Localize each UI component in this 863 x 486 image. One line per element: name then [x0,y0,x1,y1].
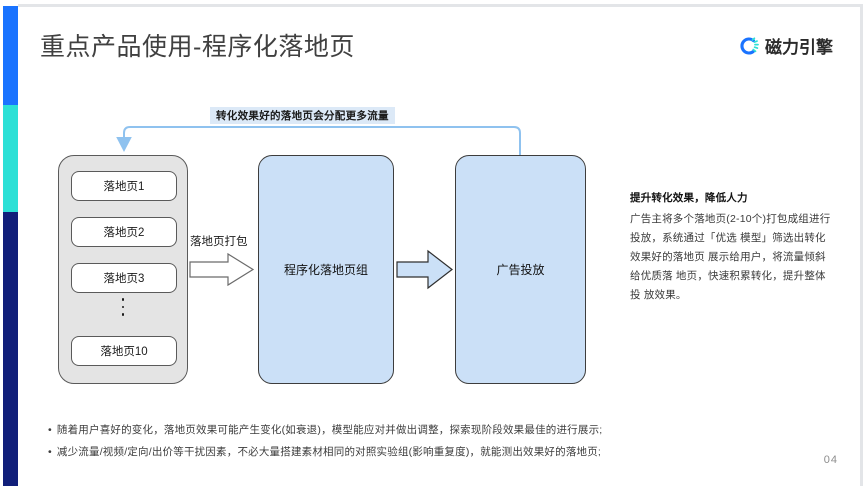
vertical-ellipsis-icon [59,298,187,316]
brand-logo: 磁力引擎 [737,33,833,58]
bullet-list: • 随着用户喜好的变化，落地页效果可能产生变化(如衰退)，模型能应对并做出调整，… [48,419,808,463]
list-item: 落地页3 [71,263,177,293]
bullet-text: 随着用户喜好的变化，落地页效果可能产生变化(如衰退)，模型能应对并做出调整，探索… [57,419,603,441]
bullet-text: 减少流量/视频/定向/出价等干扰因素，不必大量搭建素材相同的对照实验组(影响重复… [57,441,601,463]
flow-diagram: 转化效果好的落地页会分配更多流量 落地页1 落地页2 落地页3 落地页10 落地… [0,95,620,405]
side-note-title: 提升转化效果，降低人力 [630,190,835,205]
arrow-label-pack: 落地页打包 [190,233,248,249]
node-ad-delivery: 广告投放 [455,155,586,384]
list-item: 落地页1 [71,171,177,201]
list-item: • 随着用户喜好的变化，落地页效果可能产生变化(如衰退)，模型能应对并做出调整，… [48,419,808,441]
brand-name: 磁力引擎 [765,33,833,58]
accent-bar-blue [3,6,18,105]
slide-canvas: 重点产品使用-程序化落地页 磁力引擎 [0,0,863,486]
bullet-dot-icon: • [48,419,52,441]
landing-page-group-container: 落地页1 落地页2 落地页3 落地页10 [58,155,188,384]
frame-top-hairline [18,4,863,7]
list-item: 落地页10 [71,336,177,366]
feedback-loop-label: 转化效果好的落地页会分配更多流量 [210,107,395,124]
side-note: 提升转化效果，降低人力 广告主将多个落地页(2-10个)打包成组进行投放，系统通… [630,190,835,305]
magnet-engine-logo-icon [737,35,759,57]
list-item: 落地页2 [71,217,177,247]
side-note-body: 广告主将多个落地页(2-10个)打包成组进行投放，系统通过「优选 模型」筛选出转… [630,210,835,305]
node-programmatic-landing-page-group: 程序化落地页组 [258,155,394,384]
list-item: • 减少流量/视频/定向/出价等干扰因素，不必大量搭建素材相同的对照实验组(影响… [48,441,808,463]
page-number: 04 [824,454,838,466]
page-title: 重点产品使用-程序化落地页 [40,27,355,63]
bullet-dot-icon: • [48,441,52,463]
